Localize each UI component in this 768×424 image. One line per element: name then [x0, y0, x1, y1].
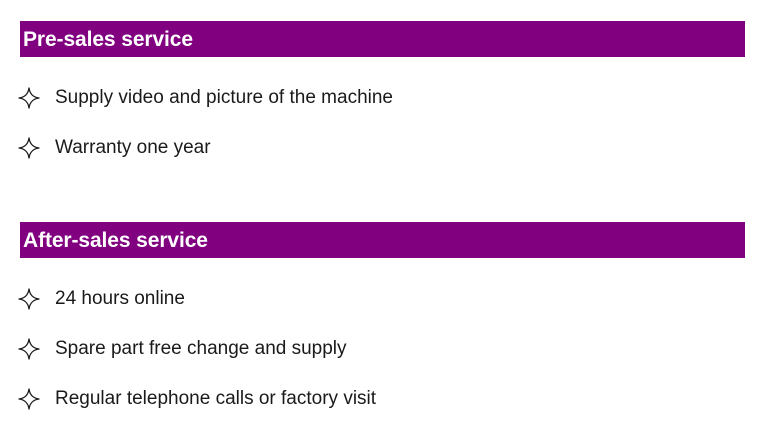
- section-header-presales: Pre-sales service: [20, 21, 745, 57]
- section-title-aftersales: After-sales service: [20, 230, 208, 251]
- bullet-list-presales: Supply video and picture of the machine …: [0, 73, 768, 173]
- section-header-aftersales: After-sales service: [20, 222, 745, 258]
- four-pointed-star-icon: [18, 288, 44, 310]
- list-item: Spare part free change and supply: [0, 324, 768, 374]
- section-title-presales: Pre-sales service: [20, 29, 193, 50]
- section-presales: Pre-sales service Supply video and pictu…: [0, 21, 768, 173]
- four-pointed-star-icon: [18, 87, 44, 109]
- list-item: Warranty one year: [0, 123, 768, 173]
- four-pointed-star-icon: [18, 137, 44, 159]
- bullet-list-aftersales: 24 hours online Spare part free change a…: [0, 274, 768, 424]
- four-pointed-star-icon: [18, 388, 44, 410]
- section-aftersales: After-sales service 24 hours online Spar…: [0, 222, 768, 424]
- slide-canvas: Pre-sales service Supply video and pictu…: [0, 0, 768, 421]
- list-item: Regular telephone calls or factory visit: [0, 374, 768, 424]
- four-pointed-star-icon: [18, 338, 44, 360]
- list-item-label: Spare part free change and supply: [55, 338, 347, 361]
- list-item: 24 hours online: [0, 274, 768, 324]
- list-item-label: 24 hours online: [55, 288, 185, 311]
- list-item-label: Regular telephone calls or factory visit: [55, 388, 376, 411]
- list-item-label: Warranty one year: [55, 137, 211, 160]
- list-item: Supply video and picture of the machine: [0, 73, 768, 123]
- list-item-label: Supply video and picture of the machine: [55, 87, 393, 110]
